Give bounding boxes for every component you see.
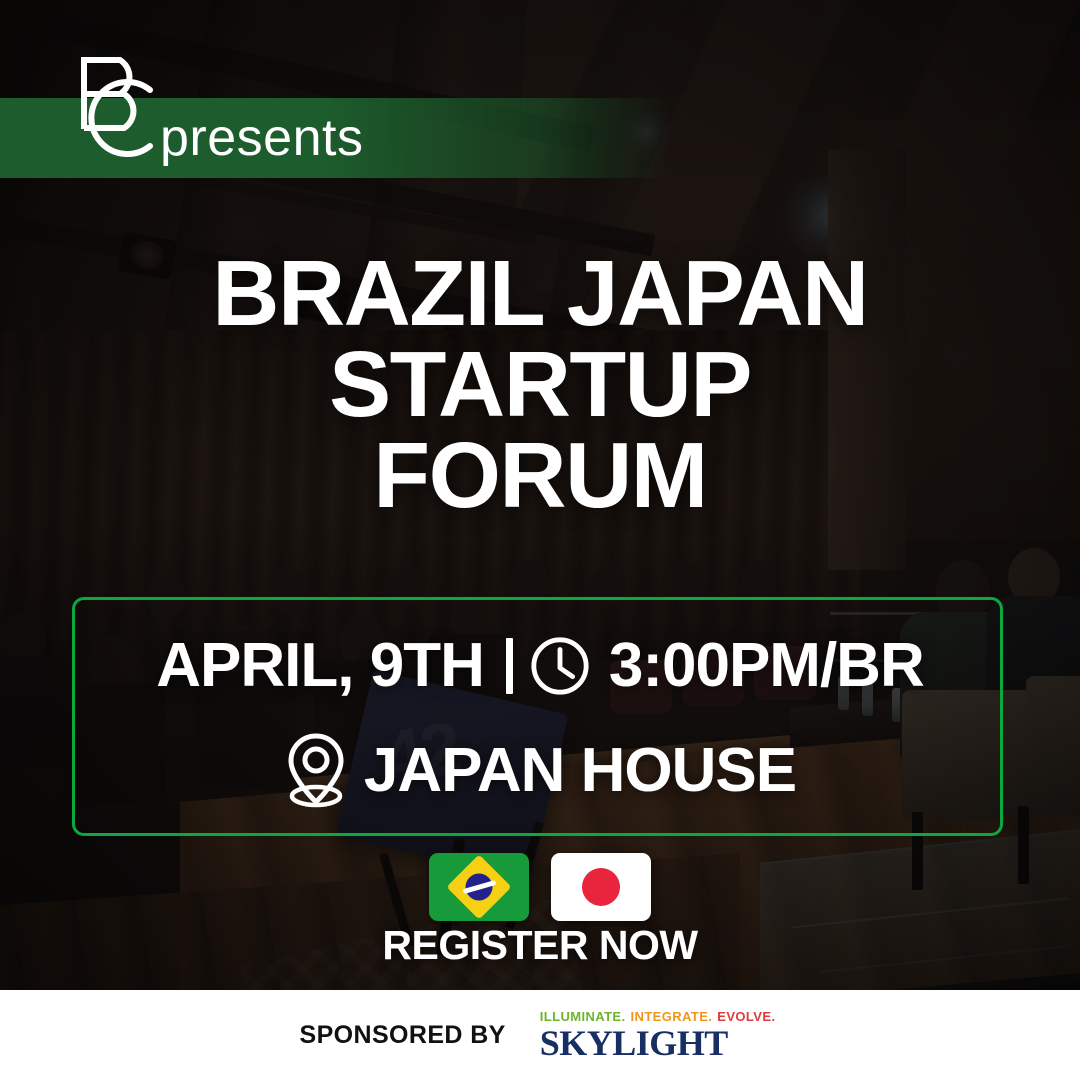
sponsor-tagline: ILLUMINATE.INTEGRATE.EVOLVE. [540, 1009, 781, 1024]
country-flags [0, 853, 1080, 921]
bc-monogram-logo [62, 48, 170, 170]
separator-bar [506, 638, 513, 694]
tagline-word-illuminate: ILLUMINATE. [540, 1009, 626, 1024]
sponsored-by-label: SPONSORED BY [300, 1021, 506, 1050]
venue-row: JAPAN HOUSE [0, 730, 1080, 810]
event-venue: JAPAN HOUSE [364, 735, 796, 806]
presents-label: presents [160, 100, 363, 176]
event-poster: 42 presents BRAZIL [0, 0, 1080, 1080]
tagline-word-integrate: INTEGRATE. [631, 1009, 713, 1024]
brazil-flag-globe [466, 874, 493, 901]
event-date: APRIL, 9TH [156, 630, 484, 701]
event-time: 3:00PM/BR [609, 630, 924, 701]
tagline-word-evolve: EVOLVE. [717, 1009, 775, 1024]
headline-line-2: STARTUP [0, 339, 1080, 430]
japan-flag-sun [582, 868, 620, 906]
location-pin-icon [284, 730, 348, 810]
sponsor-wordmark: SKYLIGHT [540, 1025, 728, 1061]
page-title: BRAZIL JAPAN STARTUP FORUM [0, 248, 1080, 521]
date-time-row: APRIL, 9TH 3:00PM/BR [0, 630, 1080, 701]
brazil-flag [429, 853, 529, 921]
japan-flag [551, 853, 651, 921]
sponsor-logo: ILLUMINATE.INTEGRATE.EVOLVE. SKYLIGHT [540, 1009, 781, 1061]
sponsor-footer: SPONSORED BY ILLUMINATE.INTEGRATE.EVOLVE… [0, 990, 1080, 1080]
register-now-button[interactable]: REGISTER NOW [0, 922, 1080, 969]
headline-line-1: BRAZIL JAPAN [0, 248, 1080, 339]
clock-icon [529, 635, 591, 697]
headline-line-3: FORUM [0, 430, 1080, 521]
brazil-flag-banner [462, 880, 496, 894]
